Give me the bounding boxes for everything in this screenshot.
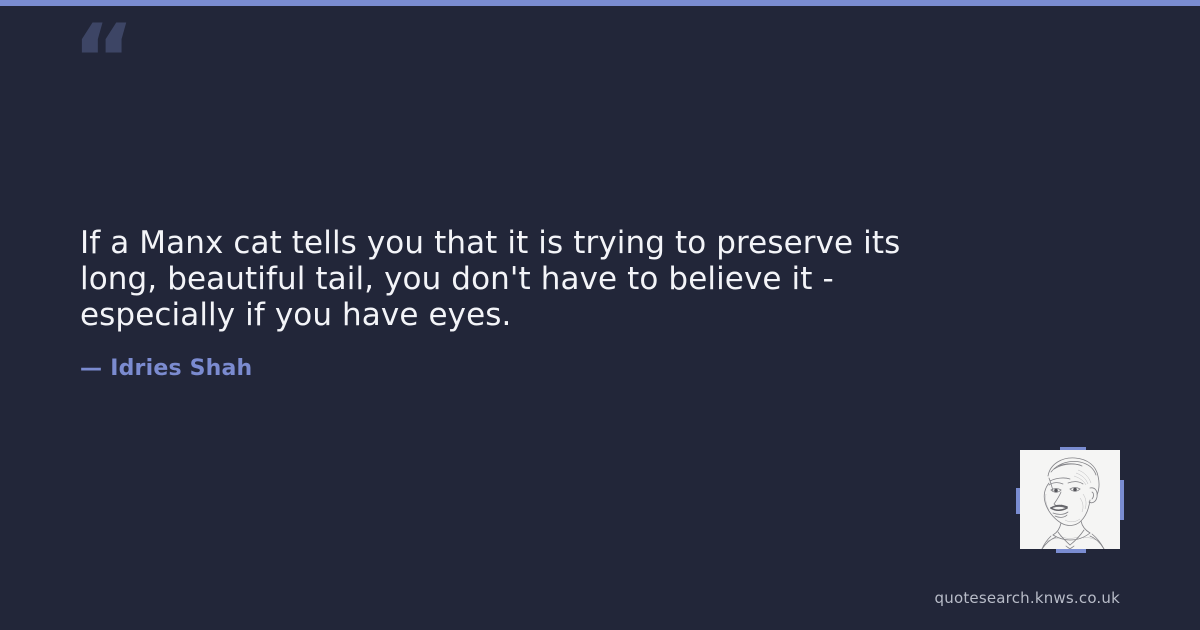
portrait-accent-left [1016, 488, 1020, 514]
portrait-accent-top [1060, 447, 1086, 450]
author-name: Idries Shah [110, 356, 252, 381]
author-portrait[interactable] [1020, 450, 1120, 549]
portrait-accent-right [1120, 480, 1124, 520]
quote-text: If a Manx cat tells you that it is tryin… [80, 225, 960, 333]
quote-author: —Idries Shah [80, 356, 252, 381]
author-portrait-frame [1020, 450, 1120, 549]
author-dash: — [80, 356, 102, 381]
opening-quote-icon: “ [72, 12, 133, 108]
top-accent-bar [0, 0, 1200, 6]
author-portrait-sketch [1020, 450, 1120, 549]
quote-card: “ If a Manx cat tells you that it is try… [0, 0, 1200, 630]
portrait-accent-bottom [1056, 549, 1086, 553]
site-url[interactable]: quotesearch.knws.co.uk [935, 589, 1120, 607]
